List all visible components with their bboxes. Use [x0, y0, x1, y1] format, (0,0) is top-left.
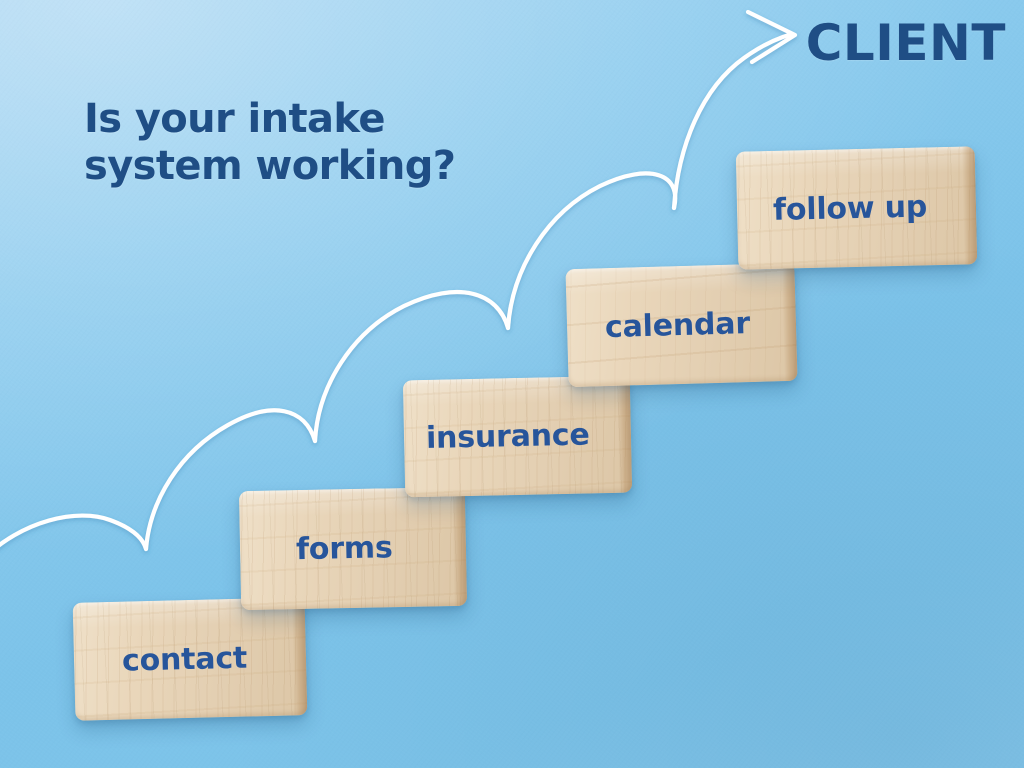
arc-segment-1 [0, 516, 146, 560]
poster-canvas: Is your intake system working? CLIENT co… [0, 0, 1024, 768]
arrowhead-icon [748, 12, 795, 62]
block-side-face [617, 376, 632, 493]
headline-line-2: system working? [84, 143, 554, 190]
step-block-label: calendar [605, 306, 751, 345]
step-block-label: insurance [426, 417, 590, 455]
step-block-contact[interactable]: contact [73, 597, 308, 721]
client-destination-label: CLIENT [806, 14, 1006, 72]
step-block-label: contact [122, 640, 248, 678]
step-block-insurance[interactable]: insurance [403, 376, 632, 498]
block-side-face [452, 487, 467, 606]
block-side-face [962, 146, 978, 264]
step-block-calendar[interactable]: calendar [565, 263, 797, 387]
headline-line-1: Is your intake [84, 96, 385, 142]
step-block-label: forms [296, 530, 393, 567]
step-block-followup[interactable]: follow up [736, 146, 978, 269]
step-block-label: follow up [773, 189, 928, 227]
headline: Is your intake system working? [84, 96, 554, 190]
step-block-forms[interactable]: forms [239, 487, 467, 610]
